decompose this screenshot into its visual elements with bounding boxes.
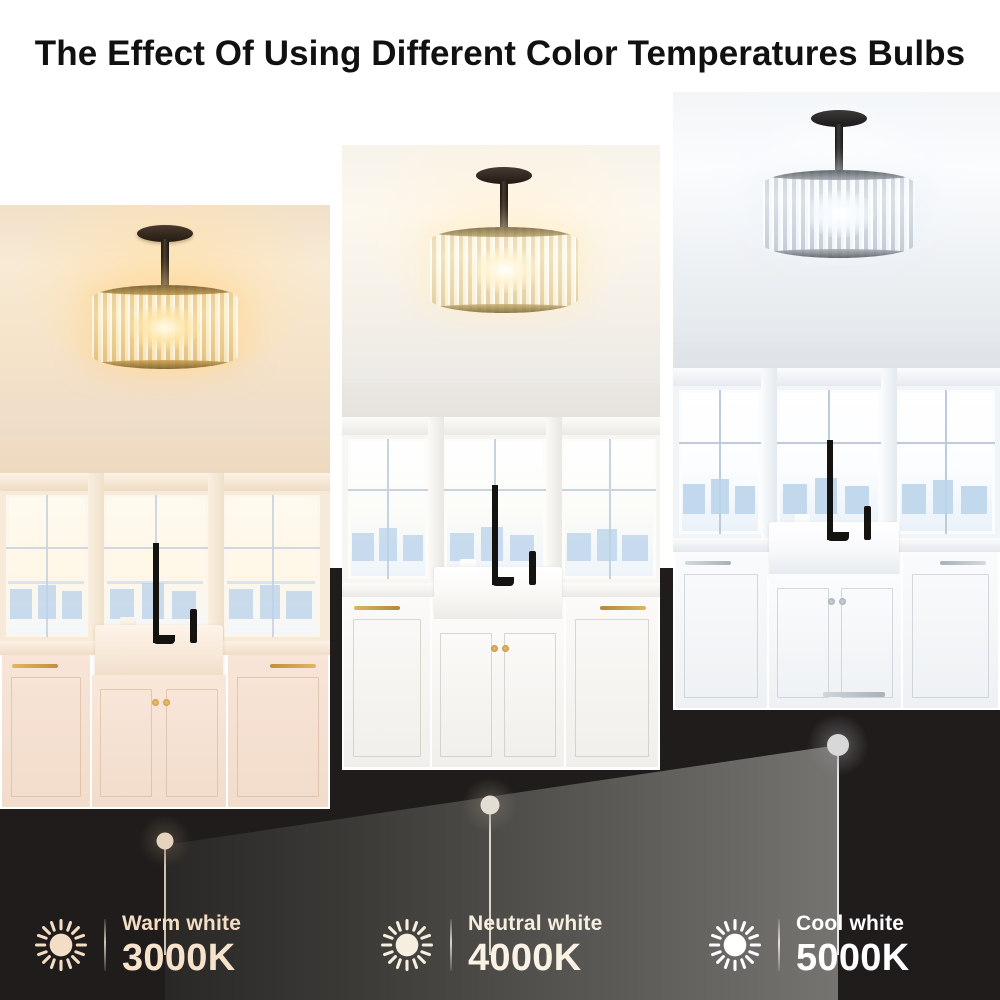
upper-wall xyxy=(342,383,660,417)
upper-wall xyxy=(673,342,1000,368)
shade-bottom-rim xyxy=(763,249,915,258)
window-right xyxy=(562,439,656,579)
chandelier-warm xyxy=(74,225,254,375)
legend-name: Warm white xyxy=(122,913,241,934)
legend-text: Cool white 5000K xyxy=(796,913,909,977)
bulb-glow xyxy=(805,190,875,238)
legend-divider xyxy=(104,919,106,971)
downrod xyxy=(835,124,843,176)
sun-icon xyxy=(706,916,764,974)
window-header-trim xyxy=(673,368,1000,386)
crystal-drum-shade xyxy=(92,285,238,369)
page-title: The Effect Of Using Different Color Temp… xyxy=(0,34,1000,74)
shade-top-rim xyxy=(430,227,578,237)
bulb-glow xyxy=(130,305,200,351)
window-pier xyxy=(546,417,562,583)
window-pier xyxy=(428,417,444,583)
window-header-trim xyxy=(0,473,330,491)
legend-name: Cool white xyxy=(796,913,909,934)
legend-cool-white[interactable]: Cool white 5000K xyxy=(706,905,909,985)
window-wall xyxy=(673,368,1000,538)
dot-warm xyxy=(157,833,174,850)
window-wall xyxy=(342,417,660,583)
window-right xyxy=(897,390,995,534)
window-pier xyxy=(761,368,777,538)
shade-top-rim xyxy=(763,170,915,180)
infographic-canvas: The Effect Of Using Different Color Temp… xyxy=(0,0,1000,1000)
kitchen-faucet xyxy=(827,440,833,540)
downrod xyxy=(161,239,169,291)
legend-text: Warm white 3000K xyxy=(122,913,241,977)
faucet-spout xyxy=(827,532,849,541)
sun-icon xyxy=(32,916,90,974)
crystal-drum-shade xyxy=(763,170,915,258)
legend-warm-white[interactable]: Warm white 3000K xyxy=(32,905,241,985)
legend-kelvin: 5000K xyxy=(796,939,909,977)
downrod xyxy=(500,181,508,233)
upper-wall xyxy=(0,437,330,473)
window-left xyxy=(348,439,428,579)
building-outside xyxy=(679,474,761,534)
dot-cool xyxy=(827,734,849,756)
legend-neutral-white[interactable]: Neutral white 4000K xyxy=(378,905,602,985)
window-header-trim xyxy=(342,417,660,435)
dot-neutral xyxy=(481,796,500,815)
window-left xyxy=(679,390,761,534)
faucet-sprayer xyxy=(864,506,871,540)
legend-kelvin: 4000K xyxy=(468,939,602,977)
shade-bottom-rim xyxy=(430,304,578,313)
shade-bottom-rim xyxy=(92,360,238,369)
legend-divider xyxy=(450,919,452,971)
legend-name: Neutral white xyxy=(468,913,602,934)
bulb-glow xyxy=(470,247,540,293)
legend-kelvin: 3000K xyxy=(122,939,241,977)
legend-text: Neutral white 4000K xyxy=(468,913,602,977)
crystal-drum-shade xyxy=(430,227,578,313)
chandelier-cool xyxy=(747,110,931,262)
building-outside xyxy=(897,474,995,534)
window-pier xyxy=(881,368,897,538)
chandelier-neutral xyxy=(414,167,594,317)
legend-divider xyxy=(778,919,780,971)
sun-icon xyxy=(378,916,436,974)
shade-top-rim xyxy=(92,285,238,295)
